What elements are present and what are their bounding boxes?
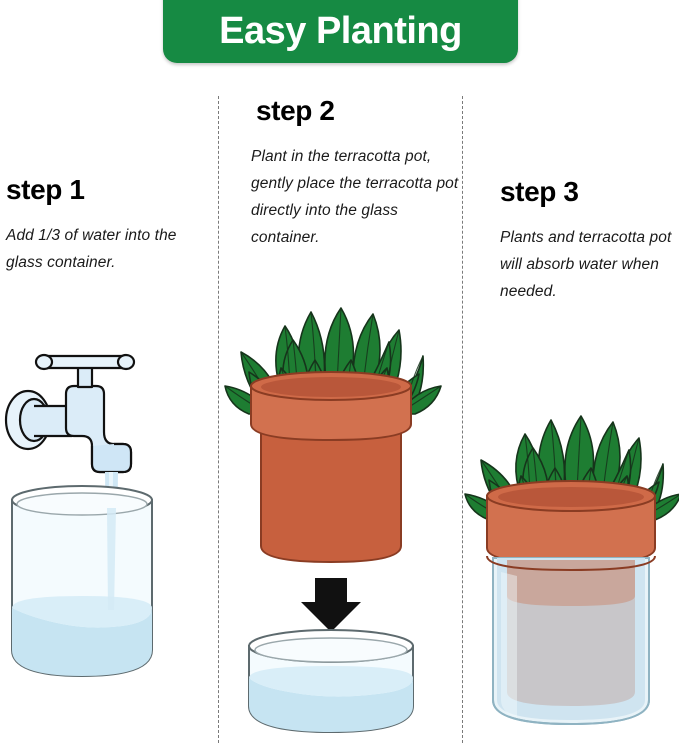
step-column-1: step 1 Add 1/3 of water into the glass c…: [0, 0, 218, 743]
terracotta-pot-rim: [487, 481, 655, 564]
step-column-2: step 2 Plant in the terracotta pot, gent…: [219, 0, 462, 743]
down-arrow-icon: [301, 578, 361, 632]
glass-container: [487, 556, 655, 724]
glass-container: [249, 630, 413, 732]
terracotta-pot: [251, 372, 411, 562]
step-1-illustration: [0, 360, 218, 743]
step-2-description: Plant in the terracotta pot, gently plac…: [251, 143, 461, 252]
faucet-icon: [6, 355, 134, 472]
step-2-illustration: [219, 290, 462, 743]
step-3-heading: step 3: [500, 176, 579, 208]
step-column-3: step 3 Plants and terracotta pot will ab…: [463, 0, 679, 743]
step-3-illustration: [463, 400, 679, 743]
step-1-description: Add 1/3 of water into the glass containe…: [6, 222, 211, 276]
glass-container: [12, 486, 152, 676]
step-2-heading: step 2: [256, 95, 335, 127]
step-1-heading: step 1: [6, 174, 85, 206]
step-3-description: Plants and terracotta pot will absorb wa…: [500, 224, 679, 305]
